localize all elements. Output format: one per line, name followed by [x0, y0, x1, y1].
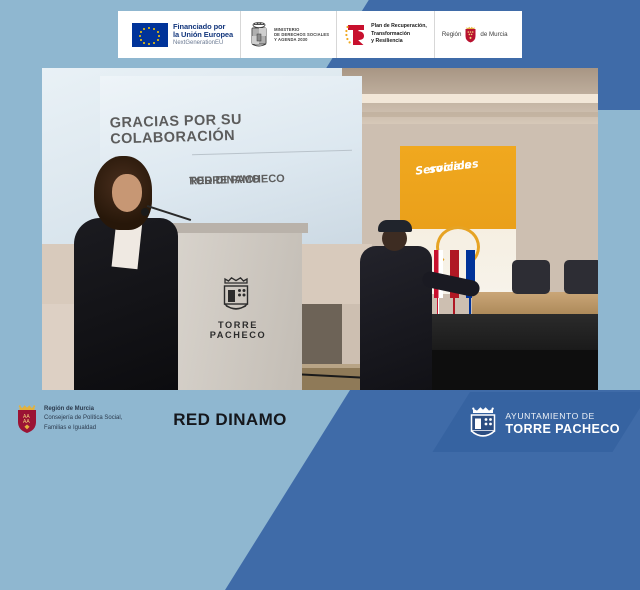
ceiling-beam: [342, 112, 598, 117]
ayuntamiento-line1: AYUNTAMIENTO DE: [505, 411, 620, 422]
logo-plan-recuperacion: Plan de Recuperación, Transformación y R…: [336, 11, 434, 58]
person-right-cap: [378, 220, 412, 232]
region-suffix: de Murcia: [480, 31, 507, 38]
eu-flag-icon: [132, 23, 168, 47]
torre-pacheco-crest-icon: [218, 276, 254, 316]
event-photo: GRACIAS POR SU COLABORACIÓN RED DINAMO T…: [42, 68, 598, 390]
ministerio-line3: Y AGENDA 2030: [274, 37, 329, 42]
spain-coat-of-arms-icon: [248, 21, 270, 48]
funding-logo-bar: Financiado por la Unión Europea NextGene…: [118, 11, 522, 58]
microphone-head: [141, 208, 149, 216]
podium-label: TORRE PACHECO: [190, 320, 286, 340]
eu-label-line2: la Unión Europea: [173, 31, 233, 39]
ayuntamiento-line2: TORRE PACHECO: [505, 422, 620, 436]
person-right-body: [360, 246, 432, 390]
logo-european-union: Financiado por la Unión Europea NextGene…: [118, 11, 240, 58]
torre-pacheco-crest-icon: [468, 406, 498, 442]
prtr-line3: y Resiliencia: [371, 38, 427, 46]
prtr-line2: Transformación: [371, 31, 427, 39]
murcia-shield-icon: [464, 26, 477, 43]
prtr-mark-icon: [344, 23, 367, 47]
region-prefix: Región: [442, 31, 462, 38]
logo-ministerio: MINISTERIO DE DERECHOS SOCIALES Y AGENDA…: [240, 11, 336, 58]
logo-region-de-murcia: Región de Murcia: [434, 11, 515, 58]
speaker-face: [112, 174, 142, 212]
prtr-line1: Plan de Recuperación,: [371, 23, 427, 31]
photo-caption: RED DINAMO: [0, 410, 460, 430]
podium-top: [162, 223, 308, 233]
slide-subtitle-line2: TORRE PACHECO: [189, 172, 285, 189]
chair: [564, 260, 598, 294]
footer-logo-ayuntamiento: AYUNTAMIENTO DE TORRE PACHECO: [468, 406, 620, 442]
chair: [512, 260, 550, 294]
eu-label-line3: NextGenerationEU: [173, 40, 233, 46]
ceiling-light-strip: [342, 94, 598, 103]
